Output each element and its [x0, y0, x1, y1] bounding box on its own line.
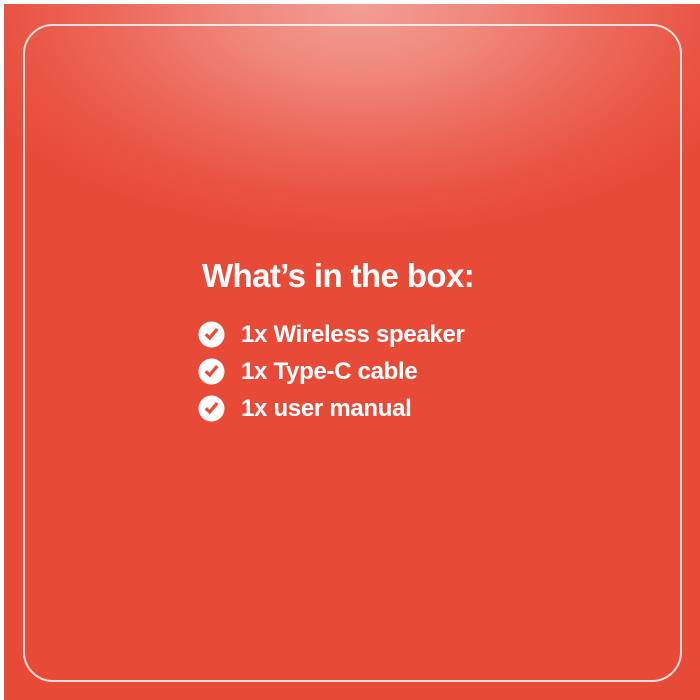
- page-margin-left: [0, 0, 4, 700]
- content-block: What’s in the box: 1x Wireless speaker 1…: [198, 258, 618, 427]
- box-contents-list: 1x Wireless speaker 1x Type-C cable 1x u…: [198, 316, 618, 427]
- product-info-card: What’s in the box: 1x Wireless speaker 1…: [0, 0, 700, 700]
- page-margin-top: [0, 0, 700, 4]
- check-circle-icon: [198, 321, 225, 348]
- list-item: 1x user manual: [198, 390, 618, 427]
- check-circle-icon: [198, 358, 225, 385]
- list-item: 1x Type-C cable: [198, 353, 618, 390]
- check-circle-icon: [198, 395, 225, 422]
- list-item-label: 1x user manual: [241, 395, 412, 423]
- list-item-label: 1x Type-C cable: [241, 358, 417, 386]
- list-item-label: 1x Wireless speaker: [241, 321, 465, 349]
- page-title: What’s in the box:: [202, 258, 618, 294]
- list-item: 1x Wireless speaker: [198, 316, 618, 353]
